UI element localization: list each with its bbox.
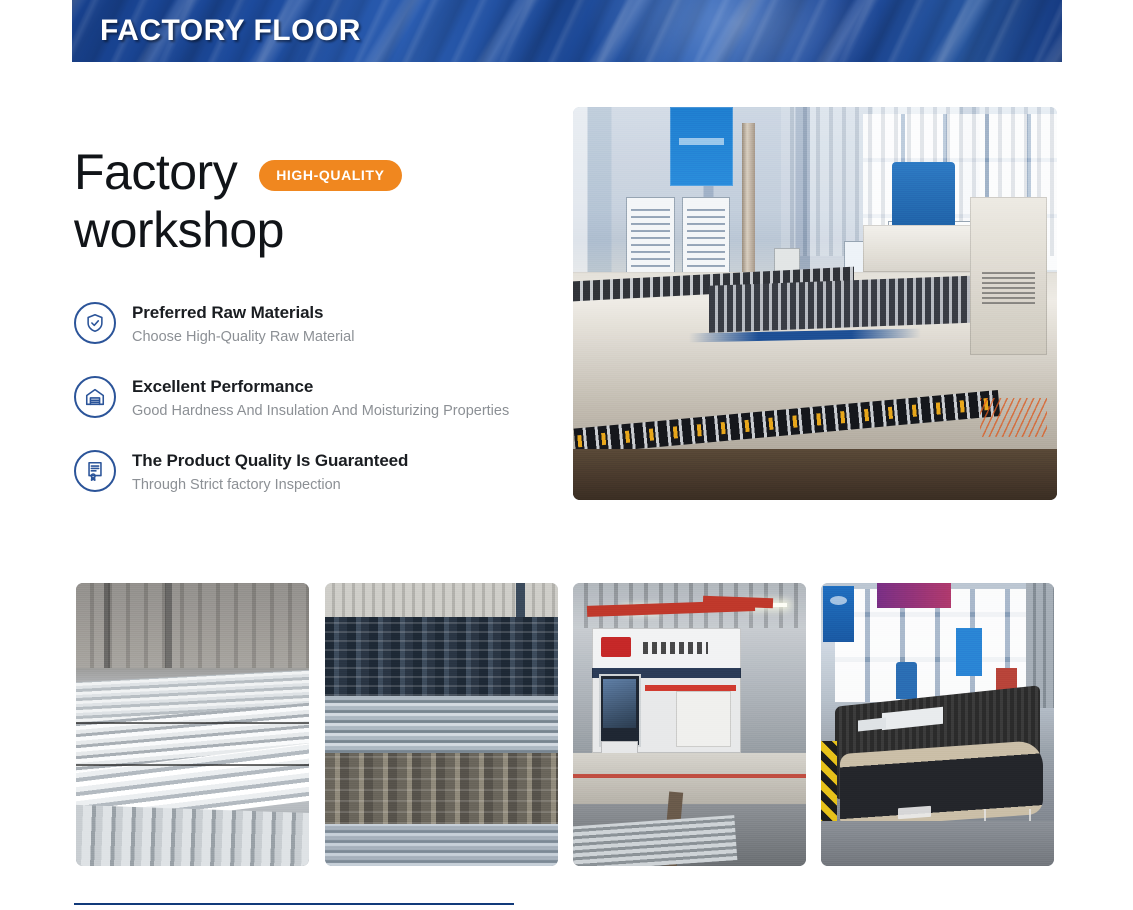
- warehouse-wall: [76, 583, 309, 668]
- safety-board-2: [682, 197, 730, 276]
- headline-first-row: Factory HIGH-QUALITY: [74, 143, 544, 201]
- thumbnail-4-content: [821, 583, 1054, 866]
- workshop-floor: [821, 821, 1054, 866]
- thumbnail-3-content: [573, 583, 806, 866]
- bundle-strap: [76, 722, 309, 724]
- thumbnail-photo-2: [325, 583, 558, 866]
- ribbed-sheet-row: [325, 824, 558, 866]
- feature-list: Preferred Raw Materials Choose High-Qual…: [74, 300, 554, 496]
- banner-glow: [584, 0, 884, 62]
- thumbnail-2-content: [325, 583, 558, 866]
- feature-title: Preferred Raw Materials: [132, 301, 354, 324]
- thumbnail-photo-3: [573, 583, 806, 866]
- feature-title: Excellent Performance: [132, 375, 509, 398]
- section-banner: FACTORY FLOOR: [72, 0, 1062, 62]
- section-divider: [74, 903, 514, 905]
- certificate-icon: [74, 450, 116, 492]
- thumbnail-photo-1: [76, 583, 309, 866]
- hero-photo: [573, 107, 1057, 500]
- factory-floor-page: FACTORY FLOOR Factory HIGH-QUALITY works…: [0, 0, 1133, 910]
- feature-subtitle: Choose High-Quality Raw Material: [132, 326, 354, 348]
- feature-text-block: The Product Quality Is Guaranteed Throug…: [132, 448, 408, 496]
- blue-hanging-banner: [823, 586, 853, 643]
- laser-gantry-head: [896, 662, 917, 699]
- machine-inner-panel: [676, 691, 732, 748]
- list-item: The Product Quality Is Guaranteed Throug…: [74, 448, 554, 496]
- feature-subtitle: Good Hardness And Insulation And Moistur…: [132, 400, 509, 422]
- corrugated-sheet-row: [325, 617, 558, 696]
- list-item: Excellent Performance Good Hardness And …: [74, 374, 554, 422]
- orange-cable-bundle: [980, 398, 1048, 437]
- thumbnail-photo-4: [821, 583, 1054, 866]
- shield-check-icon: [74, 302, 116, 344]
- page-title-line2: workshop: [74, 201, 544, 259]
- warehouse-column: [165, 583, 172, 668]
- feature-text-block: Preferred Raw Materials Choose High-Qual…: [132, 300, 354, 348]
- banner-title: FACTORY FLOOR: [100, 14, 361, 48]
- feature-subtitle: Through Strict factory Inspection: [132, 474, 408, 496]
- machine-control-cabinet: [970, 197, 1047, 354]
- machine-chinese-text: [643, 642, 708, 653]
- feature-text-block: Excellent Performance Good Hardness And …: [132, 374, 509, 422]
- status-badge: HIGH-QUALITY: [259, 160, 401, 191]
- machine-work-bench: [573, 753, 806, 804]
- machine-brand-logo: [601, 637, 631, 657]
- feature-title: The Product Quality Is Guaranteed: [132, 449, 408, 472]
- list-item: Preferred Raw Materials Choose High-Qual…: [74, 300, 554, 348]
- machine-hmi-screen: [599, 674, 641, 748]
- ribbed-sheet-row: [325, 696, 558, 755]
- safety-board-1: [626, 197, 674, 276]
- blue-hanging-sign: [670, 107, 733, 186]
- corrugated-sheet-row: [325, 753, 558, 824]
- workshop-floor: [573, 449, 1057, 500]
- machine-brand-logo: [898, 805, 931, 819]
- bundle-strap: [76, 764, 309, 766]
- thumbnail-1-content: [76, 583, 309, 866]
- purple-hanging-banner: [877, 583, 952, 608]
- blue-hanging-sign: [956, 628, 982, 676]
- hero-photo-content: [573, 107, 1057, 500]
- headline-block: Factory HIGH-QUALITY workshop: [74, 143, 544, 259]
- warehouse-icon: [74, 376, 116, 418]
- steel-profile-stack: [76, 805, 309, 866]
- page-title-line1: Factory: [74, 143, 237, 201]
